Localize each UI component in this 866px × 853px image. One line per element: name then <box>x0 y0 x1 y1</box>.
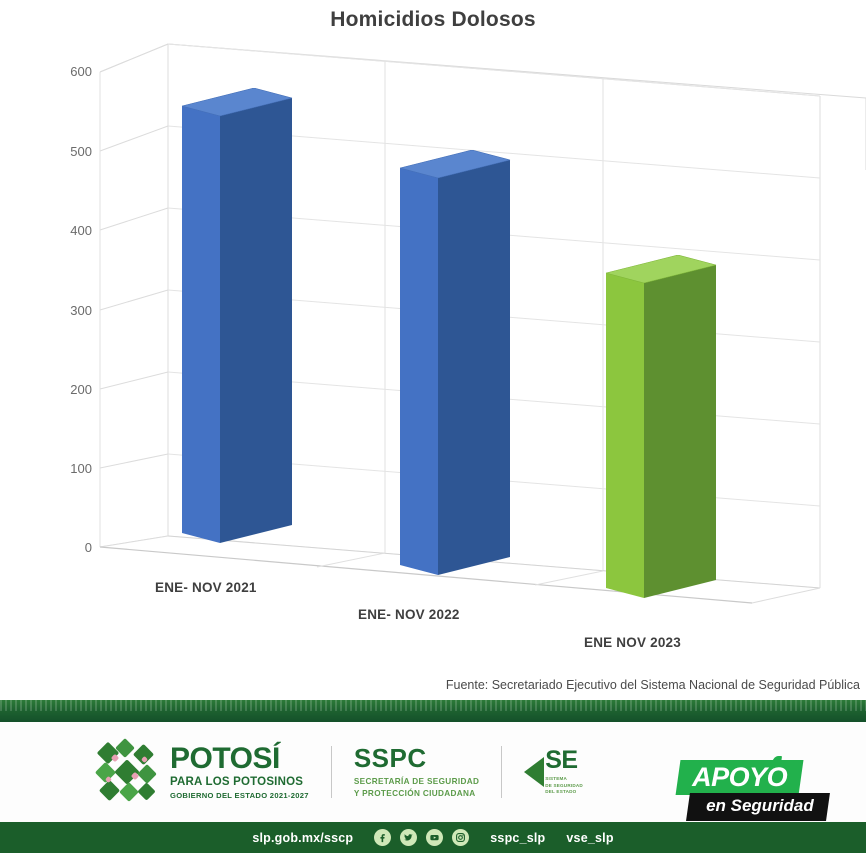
logo-group: POTOSÍ PARA LOS POTOSINOS GOBIERNO DEL E… <box>0 741 583 803</box>
footer-green-band <box>0 700 866 722</box>
chart-3d-scene: 600 500 400 300 200 100 0 <box>0 0 866 700</box>
website-url[interactable]: slp.gob.mx/sscp <box>252 831 353 845</box>
se-arrow-icon <box>524 757 544 787</box>
y-tick-100: 100 <box>32 461 92 476</box>
source-note: Fuente: Secretariado Ejecutivo del Siste… <box>446 678 860 692</box>
se-title: SE <box>545 748 583 773</box>
y-tick-200: 200 <box>32 382 92 397</box>
youtube-icon[interactable] <box>426 829 443 846</box>
footer-logo-strip: POTOSÍ PARA LOS POTOSINOS GOBIERNO DEL E… <box>0 722 866 822</box>
sspc-logo: SSPC SECRETARÍA DE SEGURIDAD Y PROTECCIÓ… <box>354 745 479 798</box>
potosi-logo: POTOSÍ PARA LOS POTOSINOS GOBIERNO DEL E… <box>96 741 309 803</box>
handle-vse-slp[interactable]: vse_slp <box>566 831 613 845</box>
se-wordmark: SE SISTEMA DE SEGURIDAD DEL ESTADO <box>545 748 583 797</box>
category-label-2022: ENE- NOV 2022 <box>358 607 460 622</box>
instagram-icon[interactable] <box>452 829 469 846</box>
logo-divider-1 <box>331 746 332 798</box>
bar-ene-nov-2023[interactable] <box>606 255 734 600</box>
handle-sspc-slp[interactable]: sspc_slp <box>490 831 545 845</box>
apoyo-label: APOYO <box>692 763 787 791</box>
apoyo-badge: APOYO en Seguridad <box>678 760 848 821</box>
potosi-wordmark: POTOSÍ PARA LOS POTOSINOS GOBIERNO DEL E… <box>170 744 309 799</box>
se-subtitle-line2: DE SEGURIDAD <box>545 783 583 790</box>
apoyo-badge-bottom: en Seguridad <box>686 793 830 821</box>
bar-3d-shape <box>182 88 310 550</box>
footer-social-bar: slp.gob.mx/sscp sspc_slp vse_slp <box>0 822 866 853</box>
bar-3d-shape <box>400 150 528 582</box>
sspc-title: SSPC <box>354 745 479 771</box>
facebook-icon[interactable] <box>374 829 391 846</box>
sspc-subtitle-line2: Y PROTECCIÓN CIUDADANA <box>354 788 479 799</box>
y-tick-300: 300 <box>32 303 92 318</box>
logo-divider-2 <box>501 746 502 798</box>
bar-ene-nov-2021[interactable] <box>182 88 310 543</box>
twitter-icon[interactable] <box>400 829 417 846</box>
y-tick-600: 600 <box>32 64 92 79</box>
potosi-emblem-icon <box>96 741 158 803</box>
se-subtitle-line1: SISTEMA <box>545 776 583 783</box>
apoyo-sublabel: en Seguridad <box>706 797 814 816</box>
category-label-2021: ENE- NOV 2021 <box>155 580 257 595</box>
sspc-subtitle-line1: SECRETARÍA DE SEGURIDAD <box>354 776 479 787</box>
bar-ene-nov-2022[interactable] <box>400 150 528 580</box>
apoyo-badge-top: APOYO <box>676 760 804 795</box>
y-tick-500: 500 <box>32 144 92 159</box>
potosi-subtitle: PARA LOS POTOSINOS <box>170 777 309 789</box>
potosi-title: POTOSÍ <box>170 744 309 774</box>
chart-area: Homicidios Dolosos <box>0 0 866 700</box>
bar-3d-shape <box>606 255 734 605</box>
y-tick-400: 400 <box>32 223 92 238</box>
se-logo: SE SISTEMA DE SEGURIDAD DEL ESTADO <box>524 748 583 797</box>
y-tick-0: 0 <box>32 540 92 555</box>
category-label-2023: ENE NOV 2023 <box>584 635 681 650</box>
potosi-period: GOBIERNO DEL ESTADO 2021-2027 <box>170 792 309 800</box>
footer: POTOSÍ PARA LOS POTOSINOS GOBIERNO DEL E… <box>0 700 866 853</box>
se-subtitle-line3: DEL ESTADO <box>545 789 583 796</box>
